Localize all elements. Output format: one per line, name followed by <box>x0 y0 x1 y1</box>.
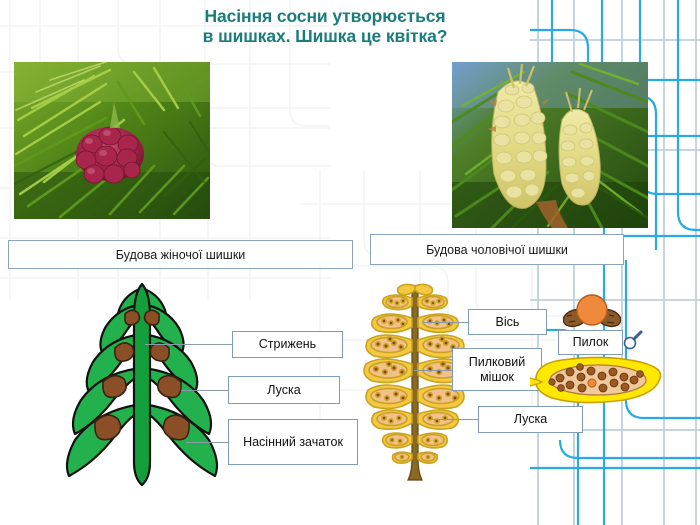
leader-line-strizhen <box>145 344 233 345</box>
slide-title: Насіння сосни утворюється в шишках. Шишк… <box>200 6 450 47</box>
label-luska-female: Луска <box>228 376 340 404</box>
female-cone-photo <box>14 62 210 219</box>
leader-line-luska-male <box>432 419 478 420</box>
label-vis: Вісь <box>468 309 547 335</box>
label-strizhen: Стрижень <box>232 331 343 358</box>
slide-canvas: Насіння сосни утворюється в шишках. Шишк… <box>0 0 700 525</box>
male-cone-photo <box>452 62 648 228</box>
caption-male-cone-structure: Будова чоловічої шишки <box>370 234 624 265</box>
magnifying-glass-icon <box>622 330 644 352</box>
female-cone-photo-image <box>14 62 210 219</box>
pollen-sac <box>528 352 668 408</box>
male-cone-photo-image <box>452 62 648 228</box>
leader-line-vis <box>422 322 468 323</box>
label-nasinnyj-zachatok: Насінний зачаток <box>228 419 358 465</box>
leader-line-luska-female <box>181 390 229 391</box>
pollen-grain <box>563 292 621 334</box>
label-luska-male: Луска <box>478 406 583 433</box>
female-cone-cross-section <box>55 282 230 487</box>
leader-line-pylkovyj <box>414 370 452 371</box>
caption-female-cone-structure: Будова жіночої шишки <box>8 240 353 269</box>
leader-line-nasinnyj <box>186 442 229 443</box>
